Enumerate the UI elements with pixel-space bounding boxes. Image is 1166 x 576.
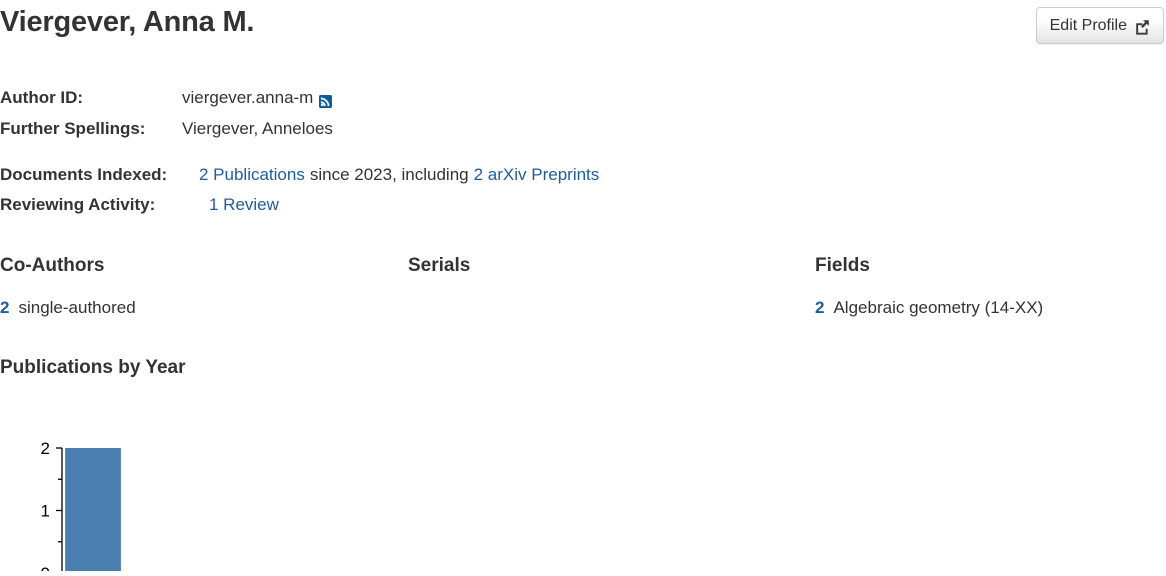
author-id-row: Author ID: viergever.anna-m [0,88,1166,119]
y-axis-tick-label: 0 [41,564,50,571]
chart-bar[interactable] [65,448,121,571]
documents-indexed-label: Documents Indexed: [0,165,199,185]
documents-since-text: since 2023, including [310,165,469,184]
further-spellings-value: Viergever, Anneloes [182,119,333,139]
documents-indexed-row: Documents Indexed: 2 Publicationssince 2… [0,165,1166,195]
author-id-label: Author ID: [0,88,182,108]
field-count: 2 [815,298,824,317]
documents-indexed-value: 2 Publicationssince 2023, including2 arX… [199,165,599,185]
column-fields: Fields 2Algebraic geometry (14-XX) [815,255,1165,319]
reviews-link[interactable]: 1 Review [209,195,279,214]
y-axis-tick-label: 1 [41,502,50,521]
author-id-value: viergever.anna-m [182,88,313,108]
author-meta-block: Author ID: viergever.anna-m Further Spel… [0,88,1166,150]
arxiv-preprints-link[interactable]: 2 arXiv Preprints [474,165,600,184]
column-coauthors: Co-Authors 2single-authored [0,255,400,319]
coauthor-count: 2 [0,298,9,317]
reviewing-activity-label: Reviewing Activity: [0,195,209,215]
coauthor-label: single-authored [18,298,135,317]
list-item[interactable]: 2Algebraic geometry (14-XX) [815,297,1165,319]
coauthors-heading: Co-Authors [0,255,400,277]
edit-profile-button[interactable]: Edit Profile [1036,7,1164,44]
edit-profile-label: Edit Profile [1050,17,1127,35]
further-spellings-row: Further Spellings: Viergever, Anneloes [0,119,1166,150]
author-id-value-group: viergever.anna-m [182,88,332,108]
page-header: Viergever, Anna M. Edit Profile [0,0,1166,58]
serials-heading: Serials [408,255,808,277]
y-axis-tick-label: 2 [41,439,50,458]
column-serials: Serials [408,255,808,297]
publications-link[interactable]: 2 Publications [199,165,305,184]
field-label: Algebraic geometry (14-XX) [833,298,1043,317]
reviewing-activity-row: Reviewing Activity: 1 Review [0,195,1166,225]
page-title: Viergever, Anna M. [0,6,254,39]
publications-chart-block: Publications by Year 2025203020352040012 [0,357,1166,379]
chart-title: Publications by Year [0,357,1166,379]
external-link-icon [1134,19,1150,35]
list-item[interactable]: 2single-authored [0,297,400,319]
reviewing-activity-value: 1 Review [209,195,279,215]
fields-heading: Fields [815,255,1165,277]
publications-by-year-chart: 2025203020352040012 [0,387,1166,571]
further-spellings-label: Further Spellings: [0,119,182,139]
documents-block: Documents Indexed: 2 Publicationssince 2… [0,165,1166,225]
rss-feed-icon[interactable] [319,93,332,106]
